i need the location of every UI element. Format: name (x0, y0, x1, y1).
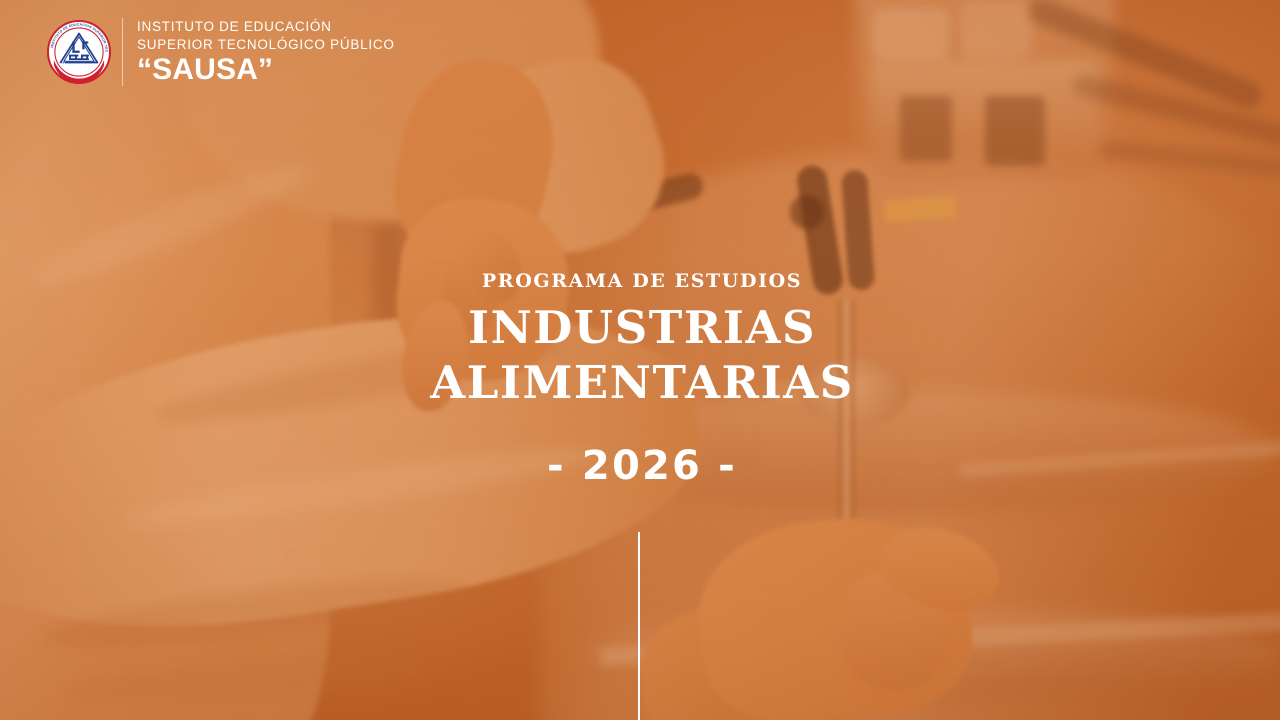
brand-text-block: INSTITUTO DE EDUCACIÓN SUPERIOR TECNOLÓG… (137, 18, 395, 85)
vertical-divider-rule (638, 532, 640, 720)
title-block: PROGRAMA DE ESTUDIOS INDUSTRIAS ALIMENTA… (0, 272, 1280, 411)
brand-acronym: “SAUSA” (137, 54, 395, 86)
headline-line-two: ALIMENTARIAS (0, 356, 1280, 411)
presentation-slide: INSTITUTO DE EDUCACION SUPERIOR TECNOLOG… (0, 0, 1280, 720)
year-label: - 2026 - (0, 446, 1280, 486)
brand-line-two: SUPERIOR TECNOLÓGICO PÚBLICO (137, 36, 395, 53)
eyebrow-label: PROGRAMA DE ESTUDIOS (0, 272, 1280, 291)
brand-divider (122, 18, 123, 86)
brand-lockup: INSTITUTO DE EDUCACION SUPERIOR TECNOLOG… (46, 18, 395, 86)
brand-line-one: INSTITUTO DE EDUCACIÓN (137, 18, 395, 35)
sausa-logo-icon: INSTITUTO DE EDUCACION SUPERIOR TECNOLOG… (46, 19, 112, 85)
headline-line-one: INDUSTRIAS (0, 301, 1280, 356)
